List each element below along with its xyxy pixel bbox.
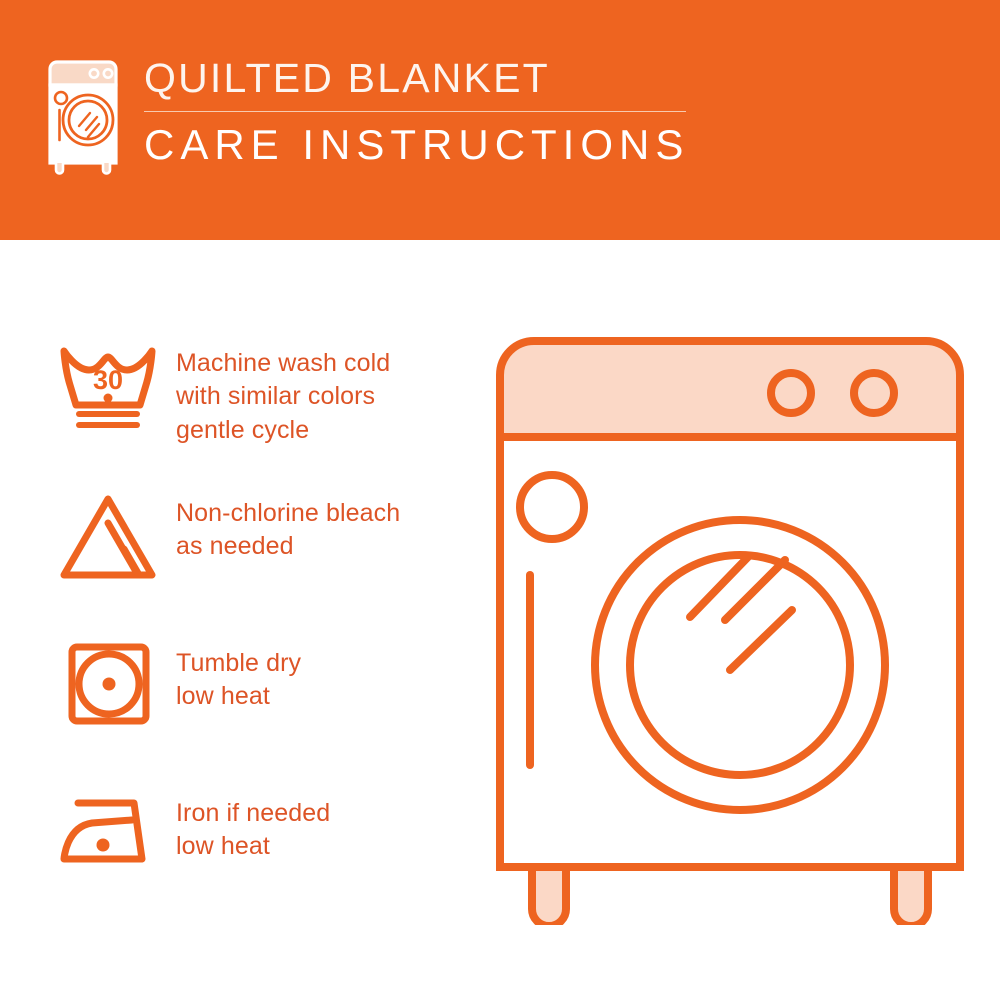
wash-temperature-label: 30: [93, 365, 123, 395]
leg-right: [894, 867, 928, 925]
iron-icon-wrap: [40, 785, 176, 885]
machine-wash-tub-icon-wrap: 30: [40, 335, 176, 435]
instruction-text: Tumble dry low heat: [176, 635, 301, 714]
list-item: 30 Machine wash cold with similar colors…: [40, 335, 470, 485]
washer-body: [500, 437, 960, 867]
header-title-block: QUILTED BLANKET CARE INSTRUCTIONS: [144, 58, 689, 166]
iron-icon: [56, 789, 160, 885]
instruction-text: Machine wash cold with similar colors ge…: [176, 335, 390, 447]
list-item: Iron if needed low heat: [40, 785, 470, 935]
tumble-dry-square-icon-wrap: [40, 635, 176, 735]
leg-left: [532, 867, 566, 925]
instruction-text: Non-chlorine bleach as needed: [176, 485, 400, 564]
list-item: Tumble dry low heat: [40, 635, 470, 785]
page-title-care-instructions: CARE INSTRUCTIONS: [144, 124, 689, 166]
machine-wash-tub-icon: 30: [56, 339, 160, 435]
tumble-dry-square-icon: [56, 639, 160, 735]
washing-machine-icon: [44, 58, 122, 176]
non-chlorine-bleach-triangle-icon-wrap: [40, 485, 176, 585]
care-instruction-list: 30 Machine wash cold with similar colors…: [40, 335, 470, 935]
front-load-washing-machine-illustration: [480, 325, 980, 925]
page-header: QUILTED BLANKET CARE INSTRUCTIONS: [0, 0, 1000, 240]
list-item: Non-chlorine bleach as needed: [40, 485, 470, 635]
non-chlorine-bleach-triangle-icon: [56, 489, 160, 585]
main-content: 30 Machine wash cold with similar colors…: [0, 240, 1000, 1000]
title-divider: [144, 111, 686, 112]
page-title-product: QUILTED BLANKET: [144, 58, 689, 111]
header-content: QUILTED BLANKET CARE INSTRUCTIONS: [44, 58, 689, 176]
instruction-text: Iron if needed low heat: [176, 785, 330, 864]
